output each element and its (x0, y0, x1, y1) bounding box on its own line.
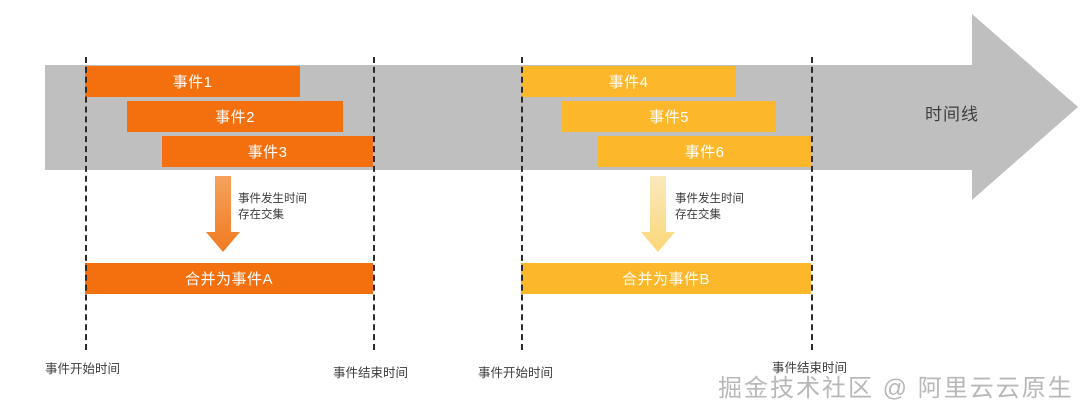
guide-end-b (811, 57, 813, 350)
caption-start-a: 事件开始时间 (45, 358, 120, 377)
event-bar-4-label: 事件4 (609, 71, 649, 92)
merge-arrow-down-icon-a (206, 176, 240, 252)
guide-end-a (373, 57, 375, 350)
merged-event-bar-a[interactable]: 合并为事件A (85, 263, 373, 294)
merge-arrow-down-icon-b (641, 176, 675, 252)
event-bar-4[interactable]: 事件4 (521, 66, 736, 97)
event-bar-2[interactable]: 事件2 (127, 101, 343, 132)
event-bar-3[interactable]: 事件3 (162, 136, 373, 167)
merge-note-a: 事件发生时间存在交集 (238, 192, 314, 223)
event-bar-5-label: 事件5 (649, 106, 689, 127)
merged-event-bar-b-label: 合并为事件B (622, 268, 710, 289)
merged-event-bar-a-label: 合并为事件A (185, 268, 273, 289)
event-bar-3-label: 事件3 (248, 141, 288, 162)
diagram-canvas: 时间线 事件1 事件2 事件3 事件发生时间存在交集 合并为事件A 事件开始时间… (0, 0, 1080, 414)
guide-start-b (521, 57, 523, 350)
caption-end-a: 事件结束时间 (333, 362, 408, 381)
event-bar-2-label: 事件2 (215, 106, 255, 127)
event-bar-6-label: 事件6 (685, 141, 725, 162)
event-bar-5[interactable]: 事件5 (562, 101, 776, 132)
caption-start-b: 事件开始时间 (478, 362, 553, 381)
timeline-label: 时间线 (925, 100, 979, 125)
event-bar-1[interactable]: 事件1 (85, 66, 300, 97)
event-bar-1-label: 事件1 (173, 71, 213, 92)
merge-note-b: 事件发生时间存在交集 (675, 192, 751, 223)
watermark: 掘金技术社区 @ 阿里云云原生 (718, 368, 1074, 403)
event-bar-6[interactable]: 事件6 (598, 136, 811, 167)
merged-event-bar-b[interactable]: 合并为事件B (521, 263, 811, 294)
guide-start-a (85, 57, 87, 350)
